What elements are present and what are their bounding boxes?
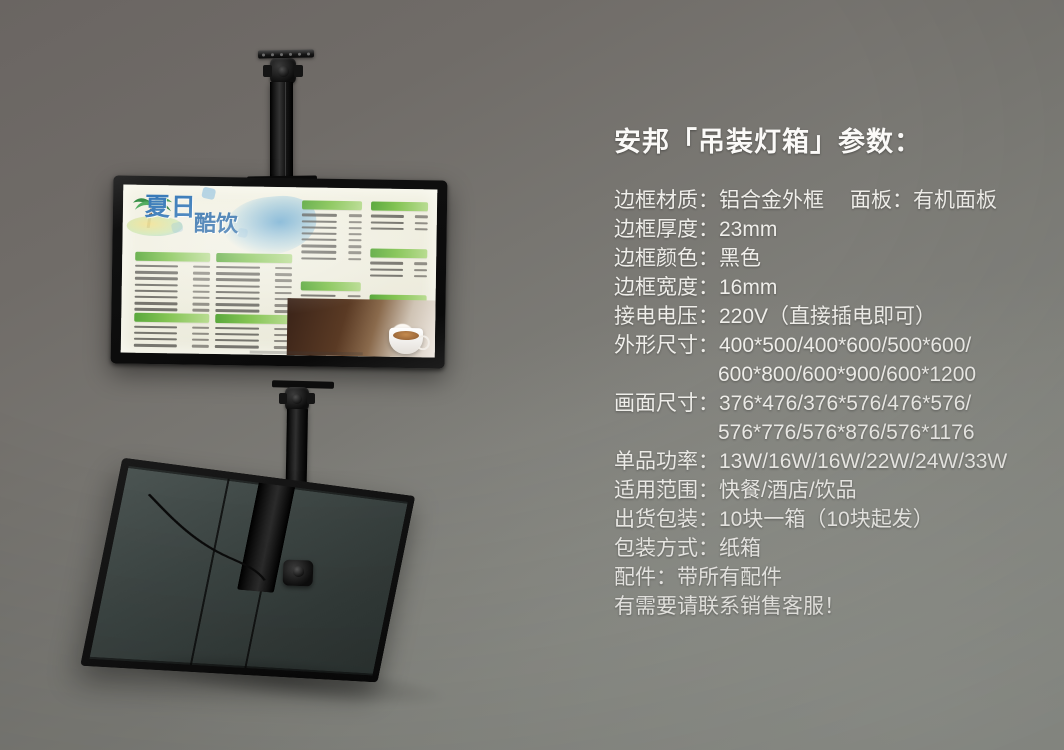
spec-label: 配件：	[614, 563, 677, 592]
spec-line: 有需要请联系销售客服！	[614, 592, 1044, 621]
menu-artwork: 夏日 酷饮	[121, 185, 438, 358]
menu-section-3	[133, 312, 209, 349]
spec-list: 边框材质：铝合金外框面板：有机面板边框厚度：23mm边框颜色：黑色边框宽度：16…	[614, 186, 1044, 621]
coffee-photo	[287, 298, 435, 357]
spec-line: 适用范围：快餐/酒店/饮品	[614, 476, 1044, 505]
menu-section-header	[135, 252, 210, 262]
menu-title-line1: 夏日	[145, 194, 197, 220]
menu-headline-art: 夏日 酷饮	[122, 185, 321, 249]
menu-item-row	[370, 272, 427, 279]
lightbox-front-lit: 夏日 酷饮	[111, 175, 448, 368]
menu-item-row	[371, 225, 428, 232]
spec-value: 10块一箱（10块起发）	[719, 505, 934, 534]
spec-line: 外形尺寸：400*500/400*600/500*600/	[614, 331, 1044, 360]
menu-section-header	[134, 312, 209, 322]
spec-value: 400*500/400*600/500*600/	[719, 331, 971, 360]
product-photo-scene: 夏日 酷饮	[0, 0, 1064, 750]
spec-panel: 安邦「吊装灯箱」参数： 边框材质：铝合金外框面板：有机面板边框厚度：23mm边框…	[614, 128, 1044, 621]
spec-value: 有需要请联系销售客服！	[614, 592, 845, 621]
spec-label: 边框厚度：	[614, 215, 719, 244]
spec-value: 快餐/酒店/饮品	[719, 476, 857, 505]
spec-label: 边框材质：	[614, 186, 719, 215]
spec-label: 画面尺寸：	[614, 389, 719, 418]
spec-value: 黑色	[719, 244, 761, 273]
menu-section-4	[215, 314, 291, 351]
knuckle-wing-left	[279, 393, 287, 404]
spec-value: 23mm	[719, 215, 777, 244]
spec-label: 边框颜色：	[614, 244, 719, 273]
spec-title: 安邦「吊装灯箱」参数：	[614, 128, 1044, 158]
coffee-cup-icon	[389, 327, 423, 354]
menu-section-1	[134, 252, 210, 314]
menu-section-5	[301, 201, 362, 262]
menu-item-row	[301, 255, 361, 262]
spec-value: 600*800/600*900/600*1200	[718, 360, 976, 389]
spec-line: 边框材质：铝合金外框面板：有机面板	[614, 186, 1044, 215]
spec-value: 220V（直接插电即可）	[719, 302, 936, 331]
spec-line: 单品功率：13W/16W/16W/22W/24W/33W	[614, 447, 1044, 476]
spec-value: 铝合金外框	[719, 186, 824, 215]
menu-item-row	[215, 343, 290, 350]
tilt-joint-hub	[292, 566, 303, 577]
spec-value: 带所有配件	[677, 563, 782, 592]
spec-value: 16mm	[719, 273, 777, 302]
spec-line: 画面尺寸：376*476/376*576/476*576/	[614, 389, 1044, 418]
ice-cube-2	[171, 222, 184, 234]
menu-section-header	[301, 281, 361, 291]
spec-value: 576*776/576*876/576*1176	[718, 418, 975, 447]
spec-label: 适用范围：	[614, 476, 719, 505]
spec-line: 边框厚度：23mm	[614, 215, 1044, 244]
spec-line: 边框宽度：16mm	[614, 273, 1044, 302]
plate-screws	[262, 50, 310, 57]
knuckle-wing-right	[307, 393, 315, 404]
menu-section-header	[371, 202, 428, 212]
spec-extra: 面板：有机面板	[850, 186, 997, 215]
spec-label: 单品功率：	[614, 447, 719, 476]
spec-line: 出货包装：10块一箱（10块起发）	[614, 505, 1044, 534]
ice-cube-1	[201, 187, 216, 201]
menu-section-header	[302, 201, 362, 211]
spec-line: 576*776/576*876/576*1176	[614, 418, 1044, 447]
spec-line: 包装方式：纸箱	[614, 534, 1044, 563]
spec-label: 外形尺寸：	[614, 331, 719, 360]
swivel-knuckle-bottom	[285, 387, 309, 411]
spec-value: 13W/16W/16W/22W/24W/33W	[719, 447, 1007, 476]
spec-label: 出货包装：	[614, 505, 719, 534]
menu-title-line2: 酷饮	[194, 213, 238, 236]
panel-seam-1	[190, 479, 230, 665]
telescoping-pole-upper	[270, 82, 293, 182]
spec-line: 接电电压：220V（直接插电即可）	[614, 302, 1044, 331]
knuckle-wing-right	[294, 65, 303, 77]
menu-item-row	[133, 342, 208, 349]
pole-seam	[285, 82, 286, 182]
menu-section-header	[370, 249, 427, 259]
menu-section-header	[215, 314, 290, 324]
knuckle-hub	[292, 394, 302, 404]
spec-value: 纸箱	[719, 534, 761, 563]
menu-section-2	[216, 253, 292, 315]
menu-section-7	[370, 249, 427, 279]
menu-section-6	[371, 202, 428, 232]
spec-value: 376*476/376*576/476*576/	[719, 389, 971, 418]
spec-line: 600*800/600*900/600*1200	[614, 360, 1044, 389]
spec-line: 边框颜色：黑色	[614, 244, 1044, 273]
tilt-joint	[283, 559, 314, 586]
spec-line: 配件：带所有配件	[614, 563, 1044, 592]
spec-label: 包装方式：	[614, 534, 719, 563]
knuckle-hub	[278, 66, 289, 77]
ice-cube-3	[237, 228, 248, 238]
knuckle-wing-left	[263, 65, 272, 77]
menu-section-header	[216, 253, 291, 263]
swivel-knuckle-top	[270, 58, 296, 84]
spec-label: 接电电压：	[614, 302, 719, 331]
spec-label: 边框宽度：	[614, 273, 719, 302]
